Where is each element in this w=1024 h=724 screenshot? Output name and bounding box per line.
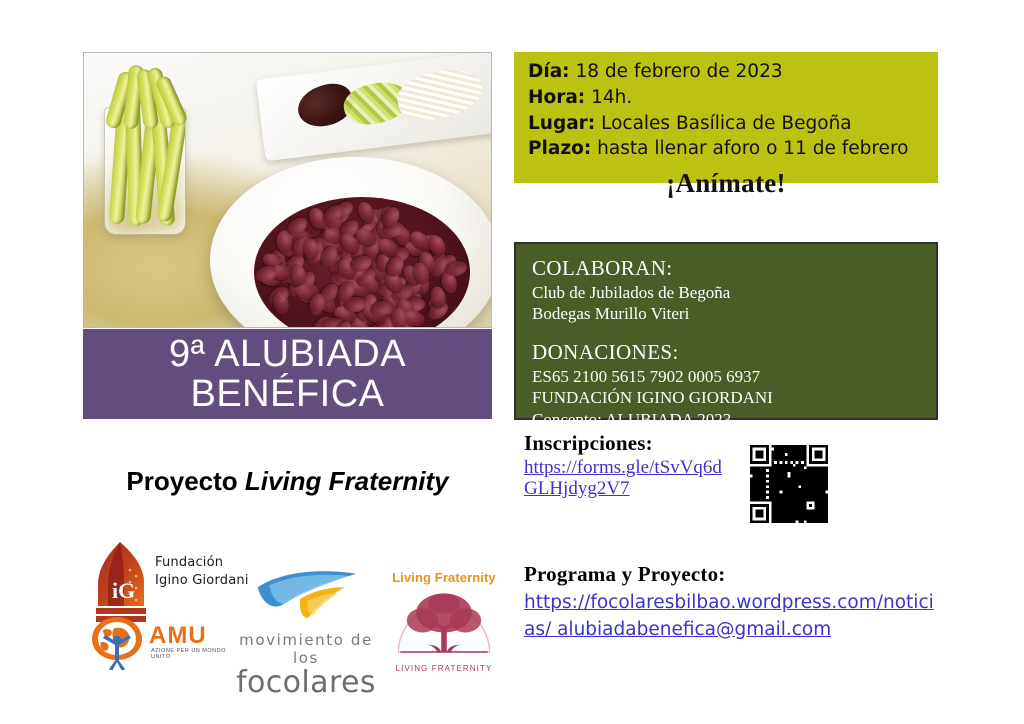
- focolares-line1: movimiento de los: [231, 631, 381, 667]
- logo-amu: AMU AZIONE PER UN MONDO UNITO: [87, 614, 237, 670]
- event-deadline-value: hasta llenar aforo o 11 de febrero: [591, 138, 908, 159]
- poster-title-line1: 9ª ALUBIADA: [169, 334, 406, 374]
- collaborators-box: COLABORAN: Club de Jubilados de Begoña B…: [514, 242, 938, 420]
- logo-living-fraternity: Living Fraternity LIVING FRATERNITY: [385, 570, 503, 680]
- event-time-value: 14h.: [585, 87, 632, 108]
- donation-iban: ES65 2100 5615 7902 0005 6937: [532, 366, 936, 388]
- program-link[interactable]: https://focolaresbilbao.wordpress.com/no…: [524, 590, 944, 644]
- event-day: Día: 18 de febrero de 2023: [528, 60, 924, 85]
- logo-row: iG Fundación Igino Giordani: [83, 536, 503, 686]
- event-details-box: Día: 18 de febrero de 2023 Hora: 14h. Lu…: [514, 52, 938, 183]
- focolares-swoosh-icon: [246, 566, 366, 624]
- call-to-action: ¡Anímate!: [528, 165, 924, 201]
- event-place: Lugar: Locales Basílica de Begoña: [528, 112, 924, 137]
- collaborator-item: Bodegas Murillo Viteri: [532, 303, 936, 325]
- event-place-label: Lugar:: [528, 113, 595, 134]
- food-photo-inner: [84, 53, 491, 327]
- food-photo: [83, 52, 492, 328]
- beans: [254, 197, 470, 328]
- donations-heading: DONACIONES:: [532, 340, 936, 366]
- poster-title-line2: BENÉFICA: [190, 374, 384, 414]
- event-time: Hora: 14h.: [528, 86, 924, 111]
- poster-title-banner: 9ª ALUBIADA BENÉFICA: [83, 329, 492, 419]
- event-deadline: Plazo: hasta llenar aforo o 11 de febrer…: [528, 137, 924, 162]
- registration-title: Inscripciones:: [524, 431, 724, 456]
- event-day-label: Día:: [528, 61, 570, 82]
- globe-person-icon: [87, 614, 147, 670]
- program-block: Programa y Proyecto: https://focolaresbi…: [524, 562, 944, 644]
- tree-icon: [391, 585, 497, 665]
- focolares-line2: focolares: [231, 667, 381, 699]
- event-day-value: 18 de febrero de 2023: [570, 61, 783, 82]
- living-fraternity-caption: LIVING FRATERNITY: [385, 664, 503, 673]
- program-title: Programa y Proyecto:: [524, 562, 944, 587]
- project-name: Living Fraternity: [245, 466, 449, 496]
- project-prefix: Proyecto: [126, 466, 245, 496]
- collaborate-heading: COLABORAN:: [532, 256, 936, 282]
- event-place-value: Locales Basílica de Begoña: [595, 113, 851, 134]
- logo-igino-giordani: iG Fundación Igino Giordani: [85, 540, 245, 670]
- registration-link[interactable]: https://forms.gle/tSvVq6dGLHjdyg2V7: [524, 457, 724, 500]
- donation-entity: FUNDACIÓN IGINO GIORDANI: [532, 387, 936, 409]
- donation-concept: Concepto: ALUBIADA 2023: [532, 409, 936, 431]
- poster-root: 9ª ALUBIADA BENÉFICA Proyecto Living Fra…: [0, 0, 1024, 724]
- rice-garnish: [393, 63, 487, 126]
- registration-block: Inscripciones: https://forms.gle/tSvVq6d…: [524, 431, 724, 500]
- living-fraternity-title: Living Fraternity: [385, 570, 503, 585]
- program-email: alubiadabenefica@gmail.com: [551, 619, 831, 640]
- spacer: [532, 325, 936, 340]
- event-deadline-label: Plazo:: [528, 138, 591, 159]
- amu-tagline: AZIONE PER UN MONDO UNITO: [151, 648, 237, 660]
- event-time-label: Hora:: [528, 87, 585, 108]
- svg-text:iG: iG: [112, 578, 135, 603]
- project-line: Proyecto Living Fraternity: [83, 466, 492, 497]
- amu-wordmark: AMU: [149, 622, 207, 650]
- collaborator-item: Club de Jubilados de Begoña: [532, 282, 936, 304]
- qr-code[interactable]: [750, 445, 828, 523]
- pepper-tops: [106, 65, 186, 129]
- logo-focolares: movimiento de los focolares: [231, 566, 381, 674]
